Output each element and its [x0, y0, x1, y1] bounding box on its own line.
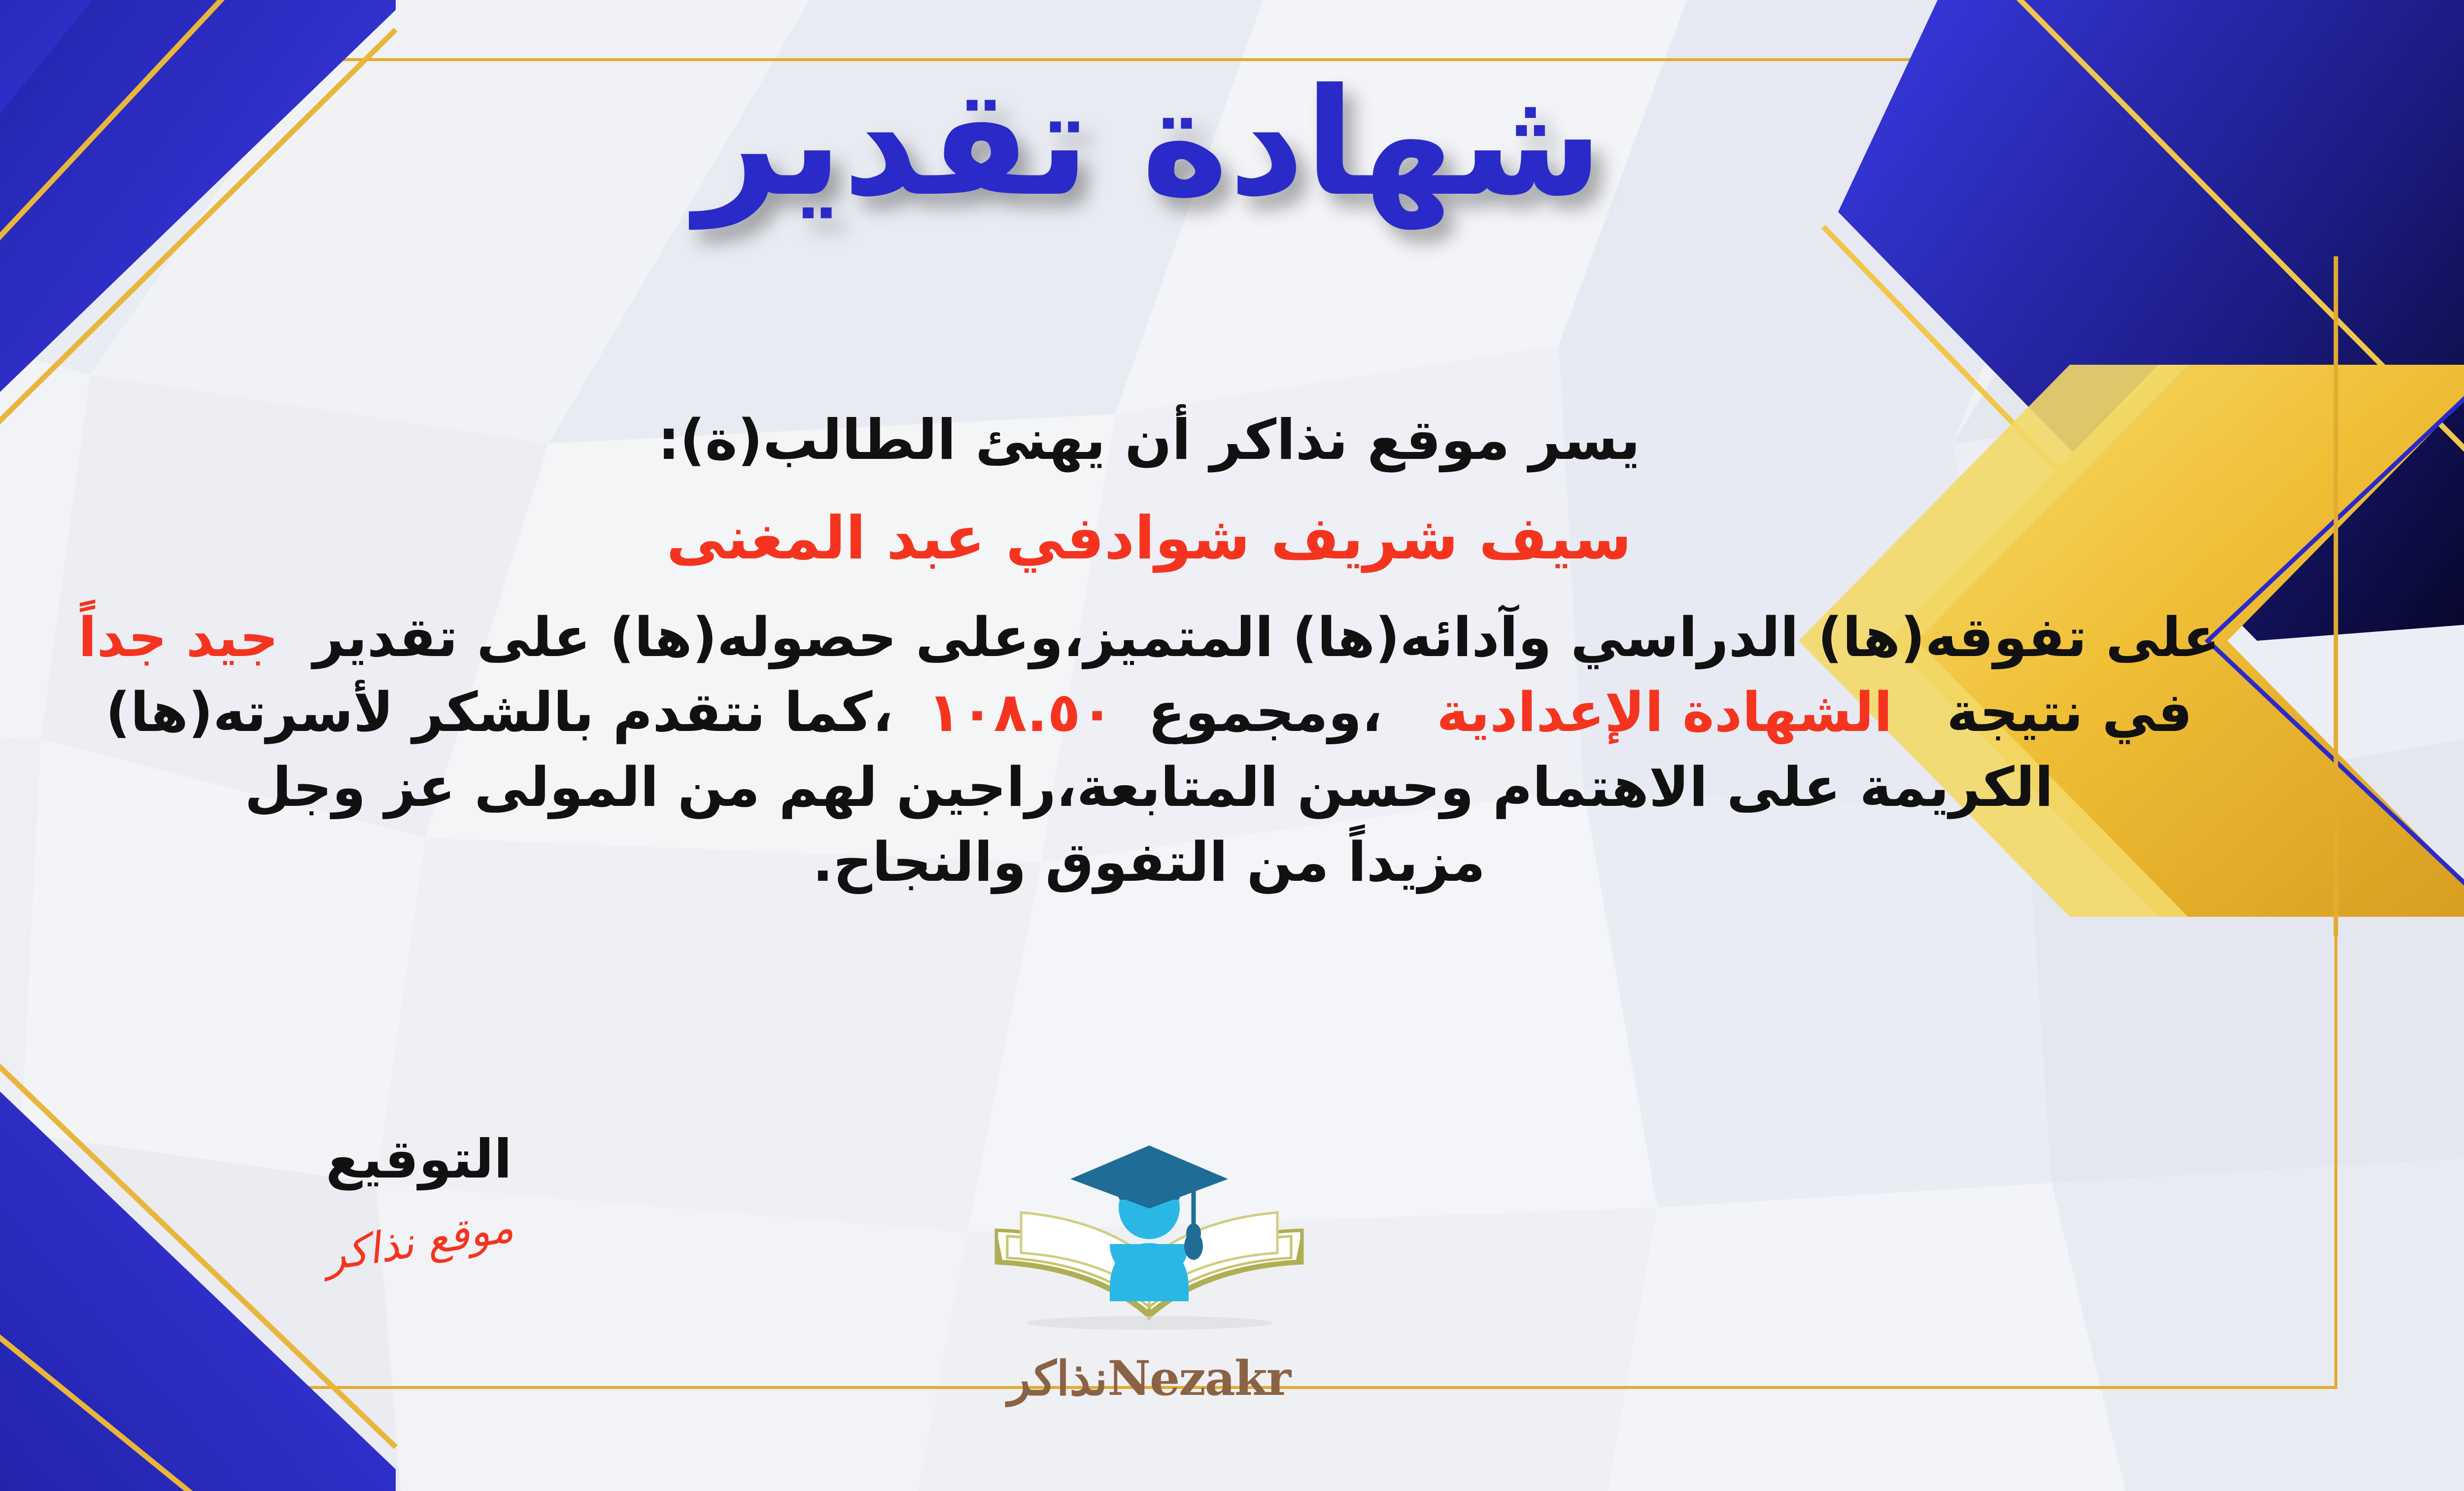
exam-name: الشهادة الإعدادية — [1437, 681, 1892, 744]
grade-value: جيد جداً — [78, 606, 279, 669]
certificate-footer: التوقيع موقع نذاكر — [0, 1129, 2464, 1434]
thanks-family-text: ،كما نتقدم بالشكر لأسرته(ها) — [105, 681, 893, 744]
title-calligraphy: شهادة تقدير — [695, 69, 1603, 217]
exam-prefix: في نتيجة — [1947, 681, 2192, 744]
total-label: ،ومجموع — [1148, 681, 1382, 744]
brand-arabic: نذاكر — [1008, 1351, 1107, 1406]
achievement-text: على تفوقه(ها) الدراسي وآدائه(ها) المتميز… — [313, 606, 2220, 669]
greeting-line: يسر موقع نذاكر أن يهنئ الطالب(ة): — [0, 404, 2365, 477]
closing-line: مزيداً من التفوق والنجاح. — [0, 825, 2365, 900]
achievement-line: على تفوقه(ها) الدراسي وآدائه(ها) المتميز… — [0, 600, 2365, 675]
brand-wordmark: Nezakrنذاكر — [0, 1351, 2464, 1406]
brand-logo: Nezakrنذاكر — [0, 1134, 2464, 1406]
student-name: سيف شريف شوادفي عبد المغنى — [0, 500, 2365, 578]
certificate-body: يسر موقع نذاكر أن يهنئ الطالب(ة): سيف شر… — [0, 404, 2365, 900]
nezakr-logo-icon — [962, 1134, 1336, 1346]
total-score: ١٠٨.٥٠ — [927, 681, 1113, 744]
certificate-document: شهادة تقدير يسر موقع نذاكر أن يهنئ الطال… — [0, 0, 2464, 1491]
certificate-title-block: شهادة تقدير — [0, 69, 2464, 217]
page-title: شهادة تقدير — [695, 69, 1603, 217]
gratitude-line: الكريمة على الاهتمام وحسن المتابعة،راجين… — [0, 750, 2365, 825]
exam-result-line: في نتيجةالشهادة الإعدادية،ومجموع١٠٨.٥٠،ك… — [0, 675, 2365, 750]
brand-latin: Nezakr — [1107, 1351, 1290, 1406]
